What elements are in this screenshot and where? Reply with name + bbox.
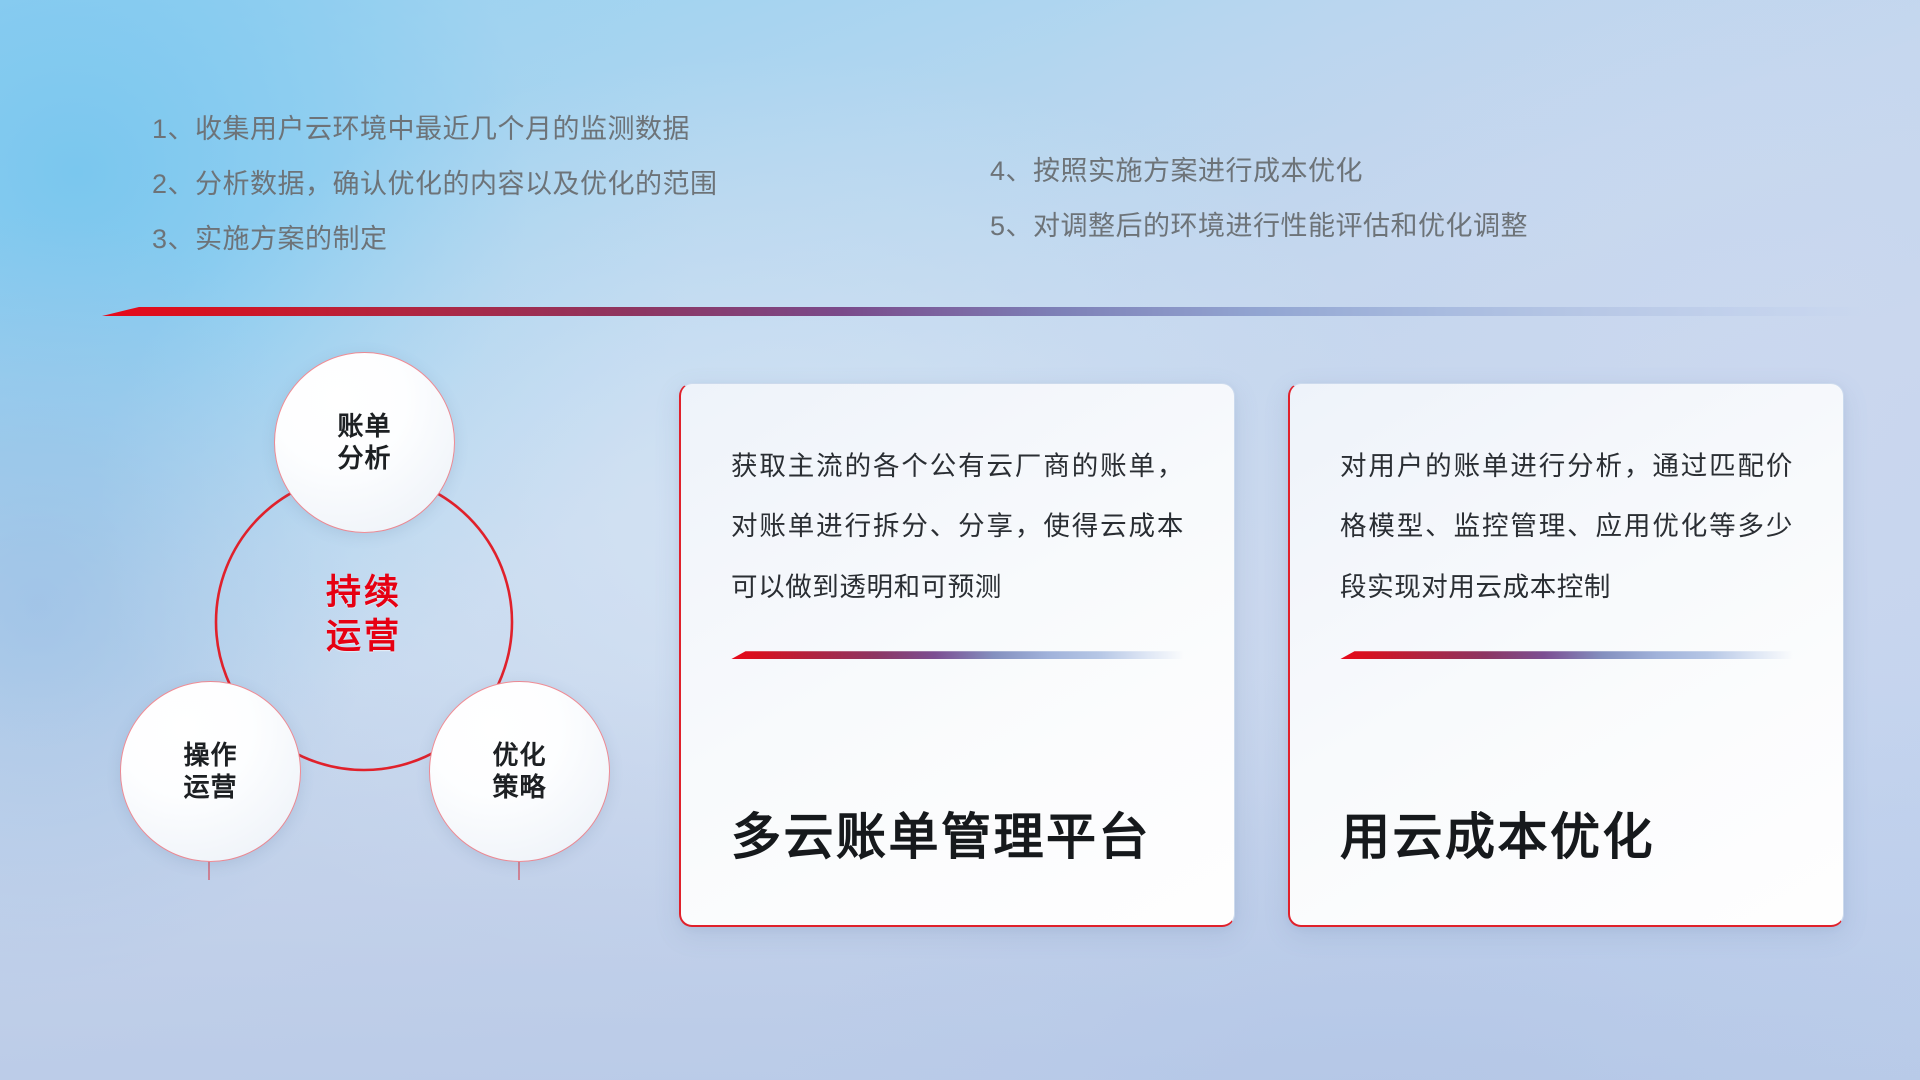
diagram-center-label-line2: 运营 xyxy=(326,615,402,659)
steps-left-column: 1、收集用户云环境中最近几个月的监测数据 2、分析数据，确认优化的内容以及优化的… xyxy=(152,116,718,253)
feature-card-2-rule xyxy=(1340,651,1793,659)
step-item-1: 1、收集用户云环境中最近几个月的监测数据 xyxy=(152,116,718,143)
feature-card-2-rule-bar xyxy=(1340,651,1793,659)
section-divider-bar xyxy=(102,307,1862,316)
bubble-ops-operation[interactable]: 操作 运营 xyxy=(120,681,301,862)
bubble-ops-operation-line1: 操作 xyxy=(183,740,237,772)
step-item-4: 4、按照实施方案进行成本优化 xyxy=(990,158,1528,185)
bubble-optimize-policy-line1: 优化 xyxy=(492,740,546,772)
step-item-3: 3、实施方案的制定 xyxy=(152,226,718,253)
feature-card-1-title: 多云账单管理平台 xyxy=(725,797,1190,869)
feature-card-1-rule xyxy=(731,651,1184,659)
bubble-optimize-policy[interactable]: 优化 策略 xyxy=(429,681,610,862)
feature-card-2-title: 用云成本优化 xyxy=(1334,797,1799,869)
slide-canvas: 1、收集用户云环境中最近几个月的监测数据 2、分析数据，确认优化的内容以及优化的… xyxy=(0,0,1920,1080)
feature-card-2-body: 对用户的账单进行分析，通过匹配价格模型、监控管理、应用优化等多少段实现对用云成本… xyxy=(1334,436,1799,617)
steps-right-column: 4、按照实施方案进行成本优化 5、对调整后的环境进行性能评估和优化调整 xyxy=(990,158,1528,240)
step-item-2: 2、分析数据，确认优化的内容以及优化的范围 xyxy=(152,171,718,198)
bubble-bill-analysis-line1: 账单 xyxy=(337,411,391,443)
feature-card-1-body: 获取主流的各个公有云厂商的账单，对账单进行拆分、分享，使得云成本可以做到透明和可… xyxy=(725,436,1190,617)
continuous-operation-diagram: 账单 分析 操作 运营 优化 策略 持续 运营 xyxy=(96,352,616,942)
bubble-ops-operation-line2: 运营 xyxy=(183,772,237,804)
feature-card-multi-cloud-bill-platform[interactable]: 获取主流的各个公有云厂商的账单，对账单进行拆分、分享，使得云成本可以做到透明和可… xyxy=(679,383,1235,927)
bubble-optimize-policy-line2: 策略 xyxy=(492,772,546,804)
diagram-center-label-line1: 持续 xyxy=(326,571,402,615)
section-divider xyxy=(102,307,1862,316)
bubble-bill-analysis-line2: 分析 xyxy=(337,443,391,475)
bubble-bill-analysis[interactable]: 账单 分析 xyxy=(274,352,455,533)
feature-card-1-rule-bar xyxy=(731,651,1184,659)
diagram-center-label: 持续 运营 xyxy=(274,540,454,690)
feature-card-cloud-cost-optimization[interactable]: 对用户的账单进行分析，通过匹配价格模型、监控管理、应用优化等多少段实现对用云成本… xyxy=(1288,383,1844,927)
step-item-5: 5、对调整后的环境进行性能评估和优化调整 xyxy=(990,213,1528,240)
